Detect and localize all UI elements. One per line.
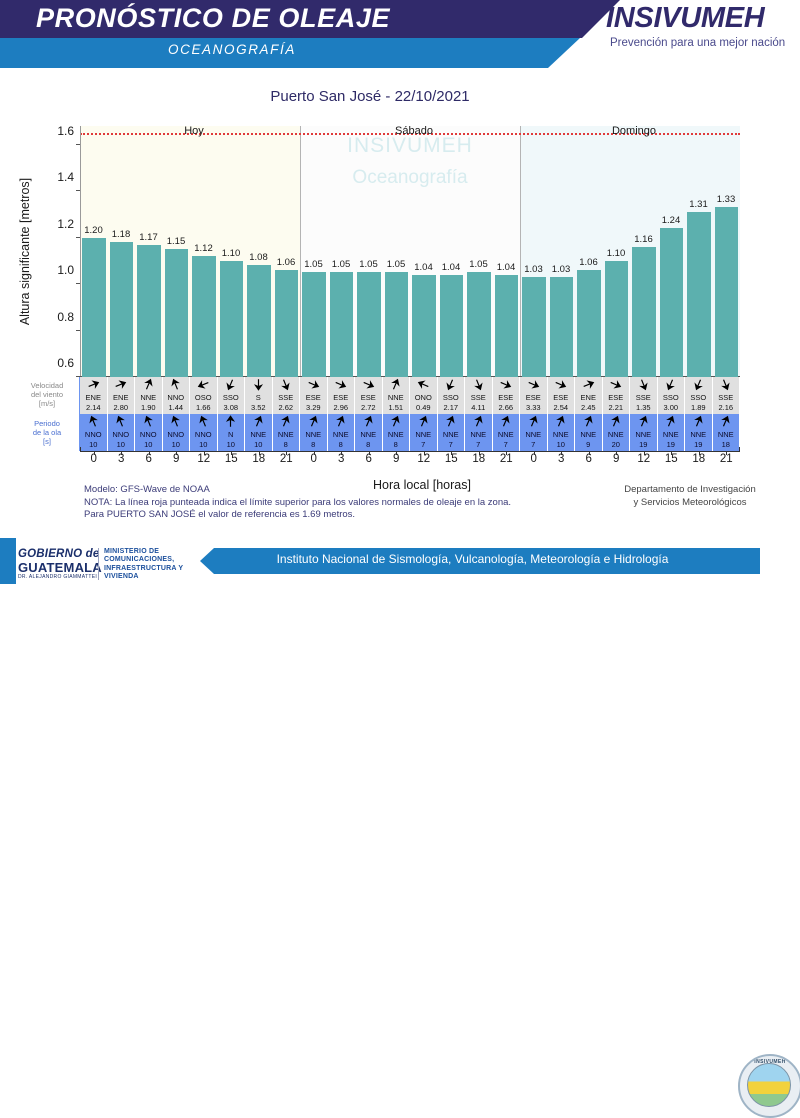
wind-direction-label: ESE (526, 393, 541, 403)
bar (192, 256, 216, 377)
row-label-wind-l2: del viento (16, 390, 78, 399)
period-cell: NNE7 (438, 414, 466, 451)
bar-value-label: 1.06 (272, 257, 301, 268)
wind-direction-label: ESE (553, 393, 568, 403)
wind-cell: ESE3.33 (520, 377, 548, 414)
wind-direction-label: SSO (223, 393, 239, 403)
wave-direction-label: NNO (140, 430, 157, 440)
wind-cell: SSO2.17 (438, 377, 466, 414)
x-tick-mark (479, 451, 480, 455)
x-tick-mark (589, 451, 590, 455)
wind-cell: ESE2.96 (328, 377, 356, 414)
wave-period-value: 10 (172, 440, 180, 450)
wind-cell: ENE2.45 (575, 377, 603, 414)
wave-period-value: 7 (421, 440, 425, 450)
bar (165, 249, 189, 377)
bar-value-label: 1.10 (217, 248, 246, 259)
wind-cell: ESE2.21 (603, 377, 631, 414)
bar-value-label: 1.17 (134, 232, 163, 243)
x-tick-mark (314, 451, 315, 455)
wave-direction-label: NNE (580, 430, 596, 440)
bar-value-label: 1.06 (574, 257, 603, 268)
wave-direction-label: NNE (278, 430, 294, 440)
wave-period-value: 19 (694, 440, 702, 450)
wave-period-row: NNO10NNO10NNO10NNO10NNO10N10NNE10NNE8NNE… (80, 414, 740, 451)
wave-direction-arrow-icon (609, 415, 622, 430)
wind-cell: NNE1.90 (135, 377, 163, 414)
wind-speed-value: 4.11 (471, 403, 485, 413)
wind-cell: NNE1.51 (383, 377, 411, 414)
wave-direction-arrow-icon (499, 415, 512, 430)
wave-period-value: 7 (504, 440, 508, 450)
row-label-wind-l3: [m/s] (16, 399, 78, 408)
wind-cell: ENE2.14 (80, 377, 108, 414)
bar-value-label: 1.04 (492, 262, 521, 273)
bar-value-label: 1.15 (162, 236, 191, 247)
x-tick-mark (424, 451, 425, 455)
bar (82, 238, 106, 377)
wave-period-value: 8 (339, 440, 343, 450)
y-tick-label: 0.8 (57, 310, 74, 324)
period-cell: NNE20 (603, 414, 631, 451)
x-tick-mark (396, 451, 397, 455)
x-tick-mark (671, 451, 672, 455)
wave-direction-arrow-icon (472, 415, 485, 430)
wind-speed-value: 1.44 (168, 403, 183, 413)
wave-height-chart: INSIVUMEH Oceanografía Altura significan… (80, 126, 740, 377)
wind-direction-label: NNO (167, 393, 184, 403)
row-label-period-l3: [s] (16, 437, 78, 446)
wave-direction-arrow-icon (417, 415, 430, 430)
bar-value-label: 1.08 (244, 252, 273, 263)
bar (577, 270, 601, 377)
wave-direction-arrow-icon (582, 415, 595, 430)
wind-direction-label: S (256, 393, 261, 403)
wave-period-value: 10 (557, 440, 565, 450)
wind-direction-label: NNE (140, 393, 156, 403)
wind-speed-value: 1.35 (636, 403, 651, 413)
wave-period-value: 7 (531, 440, 535, 450)
bar (357, 272, 381, 377)
wind-cell: NNO1.44 (163, 377, 191, 414)
y-tick-label: 1.0 (57, 263, 74, 277)
y-tick-label: 0.6 (57, 356, 74, 370)
period-cell: NNE10 (245, 414, 273, 451)
wave-period-value: 10 (144, 440, 152, 450)
wind-direction-label: ESE (306, 393, 321, 403)
bar (605, 261, 629, 377)
wind-speed-value: 2.80 (113, 403, 128, 413)
wind-direction-label: SSE (636, 393, 651, 403)
wave-period-value: 10 (199, 440, 207, 450)
period-cell: NNE10 (548, 414, 576, 451)
y-tick-label: 1.4 (57, 170, 74, 184)
wave-direction-label: N (228, 430, 233, 440)
wave-direction-label: NNE (250, 430, 266, 440)
wave-direction-label: NNE (470, 430, 486, 440)
row-label-wind-l1: Velocidad (16, 381, 78, 390)
wind-speed-value: 2.45 (581, 403, 596, 413)
wind-speed-value: 2.14 (86, 403, 101, 413)
bar (632, 247, 656, 377)
wind-cell: SSO3.00 (658, 377, 686, 414)
wind-direction-label: NNE (388, 393, 404, 403)
x-tick-mark (149, 451, 150, 455)
x-tick-mark (176, 451, 177, 455)
bar (385, 272, 409, 377)
wave-period-value: 7 (476, 440, 480, 450)
x-tick-mark (369, 451, 370, 455)
period-cell: NNO10 (108, 414, 136, 451)
bar (247, 265, 271, 377)
wave-direction-label: NNO (112, 430, 129, 440)
department-line2: y Servicios Meteorológicos (600, 497, 780, 510)
bar (687, 212, 711, 377)
wind-direction-arrow-icon (444, 378, 457, 393)
wave-direction-label: NNE (360, 430, 376, 440)
bar-value-label: 1.05 (382, 259, 411, 270)
x-tick-mark (451, 451, 452, 455)
wind-speed-value: 0.49 (416, 403, 431, 413)
wind-cell: ONO0.49 (410, 377, 438, 414)
wind-direction-arrow-icon (389, 378, 402, 393)
footer-divider (98, 548, 99, 580)
wind-direction-arrow-icon (609, 378, 622, 393)
wind-direction-arrow-icon (582, 378, 595, 393)
wave-direction-arrow-icon (142, 415, 155, 430)
wind-direction-label: ESE (608, 393, 623, 403)
wind-direction-label: SSE (278, 393, 293, 403)
y-tick-label: 1.2 (57, 217, 74, 231)
x-tick-mark (259, 451, 260, 455)
day-region-label: Domingo (600, 125, 668, 137)
chart-notes: Modelo: GFS-Wave de NOAA NOTA: La línea … (84, 484, 584, 522)
wind-speed-value: 3.52 (251, 403, 266, 413)
bar (110, 242, 134, 377)
wave-direction-arrow-icon (362, 415, 375, 430)
wind-speed-value: 2.17 (443, 403, 458, 413)
note-reference: Para PUERTO SAN JOSÉ el valor de referen… (84, 509, 584, 522)
wave-period-value: 7 (449, 440, 453, 450)
wind-direction-arrow-icon (169, 378, 182, 393)
wind-cell: SSE4.11 (465, 377, 493, 414)
wind-speed-value: 1.66 (196, 403, 211, 413)
bar-series: 1.201.181.171.151.121.101.081.061.051.05… (80, 126, 740, 377)
day-region-label: Sábado (380, 125, 448, 137)
x-tick-mark (699, 451, 700, 455)
wind-speed-row: ENE2.14ENE2.80NNE1.90NNO1.44OSO1.66SSO3.… (80, 377, 740, 414)
wind-direction-arrow-icon (87, 378, 100, 393)
wave-direction-arrow-icon (444, 415, 457, 430)
wave-direction-arrow-icon (664, 415, 677, 430)
wind-direction-label: ESE (498, 393, 513, 403)
bar (495, 275, 519, 377)
bar (715, 207, 739, 377)
wind-cell: SSO3.08 (218, 377, 246, 414)
wind-speed-value: 2.54 (553, 403, 568, 413)
x-tick-mark (726, 451, 727, 455)
wave-direction-label: NNE (415, 430, 431, 440)
insivumeh-logo: INSIVUMEH (606, 2, 764, 35)
wind-direction-arrow-icon (252, 378, 265, 393)
wave-direction-label: NNE (690, 430, 706, 440)
bar-value-label: 1.04 (437, 262, 466, 273)
bar-value-label: 1.05 (327, 259, 356, 270)
page-title: PRONÓSTICO DE OLEAJE (36, 3, 390, 34)
wave-direction-label: NNE (443, 430, 459, 440)
wind-direction-label: ESE (361, 393, 376, 403)
wind-direction-label: ESE (333, 393, 348, 403)
wave-direction-label: NNE (525, 430, 541, 440)
wind-direction-arrow-icon (527, 378, 540, 393)
period-cell: NNE8 (300, 414, 328, 451)
page-header: PRONÓSTICO DE OLEAJE OCEANOGRAFÍA INSIVU… (0, 0, 800, 68)
wind-speed-value: 3.00 (663, 403, 678, 413)
bar-value-label: 1.16 (629, 234, 658, 245)
wind-speed-value: 1.51 (388, 403, 403, 413)
institute-name: Instituto Nacional de Sismología, Vulcan… (200, 552, 745, 566)
x-tick-mark (616, 451, 617, 455)
bar (467, 272, 491, 377)
y-axis-label: Altura significante [metros] (18, 126, 40, 377)
wind-speed-value: 2.21 (608, 403, 623, 413)
period-cell: NNE19 (685, 414, 713, 451)
wind-direction-arrow-icon (307, 378, 320, 393)
wind-direction-arrow-icon (197, 378, 210, 393)
bar (660, 228, 684, 377)
note-limit: NOTA: La línea roja punteada indica el l… (84, 497, 584, 510)
wave-direction-arrow-icon (389, 415, 402, 430)
wave-direction-arrow-icon (87, 415, 100, 430)
period-cell: NNE19 (630, 414, 658, 451)
wave-period-value: 8 (311, 440, 315, 450)
row-label-wind: Velocidad del viento [m/s] (16, 381, 78, 408)
x-tick-mark (231, 451, 232, 455)
wind-direction-label: ENE (113, 393, 128, 403)
wave-period-value: 8 (366, 440, 370, 450)
bar (440, 275, 464, 377)
period-cell: NNE7 (520, 414, 548, 451)
wave-direction-arrow-icon (692, 415, 705, 430)
wind-cell: ESE3.29 (300, 377, 328, 414)
ministry-text: MINISTERIO DE COMUNICACIONES, INFRAESTRU… (104, 548, 194, 582)
wind-cell: ESE2.66 (493, 377, 521, 414)
bar-value-label: 1.05 (354, 259, 383, 270)
footer-blue-tab (0, 538, 16, 584)
wave-direction-arrow-icon (719, 415, 732, 430)
wind-direction-arrow-icon (417, 378, 430, 393)
wind-direction-arrow-icon (554, 378, 567, 393)
wave-direction-arrow-icon (554, 415, 567, 430)
wind-direction-label: ONO (415, 393, 432, 403)
wave-period-value: 8 (394, 440, 398, 450)
chart-title: Puerto San José - 22/10/2021 (0, 88, 740, 105)
wind-cell: S3.52 (245, 377, 273, 414)
x-tick-mark (534, 451, 535, 455)
wave-period-value: 18 (722, 440, 730, 450)
bar (220, 261, 244, 377)
x-tick-mark (286, 451, 287, 455)
wave-period-value: 10 (227, 440, 235, 450)
insivumeh-seal: INSIVUMEH (738, 1054, 800, 1118)
x-tick-mark (121, 451, 122, 455)
department-credit: Departamento de Investigación y Servicio… (600, 484, 780, 509)
wind-direction-label: SSE (718, 393, 733, 403)
wave-direction-arrow-icon (197, 415, 210, 430)
wave-period-value: 10 (89, 440, 97, 450)
bar-value-label: 1.33 (712, 194, 741, 205)
wind-speed-value: 2.16 (718, 403, 733, 413)
wave-period-value: 9 (586, 440, 590, 450)
wind-direction-label: SSO (663, 393, 679, 403)
wave-direction-arrow-icon (252, 415, 265, 430)
bar-value-label: 1.20 (79, 225, 108, 236)
wave-direction-arrow-icon (527, 415, 540, 430)
wind-direction-arrow-icon (692, 378, 705, 393)
wave-direction-label: NNE (333, 430, 349, 440)
wind-speed-value: 2.96 (333, 403, 348, 413)
wind-direction-label: SSO (443, 393, 459, 403)
wind-speed-value: 1.90 (141, 403, 156, 413)
wave-direction-arrow-icon (114, 415, 127, 430)
y-tick-label: 1.6 (57, 124, 74, 138)
wind-speed-value: 3.33 (526, 403, 541, 413)
gobierno-line2: GUATEMALA (18, 560, 102, 575)
wind-speed-value: 2.62 (278, 403, 293, 413)
wave-direction-label: NNE (608, 430, 624, 440)
bar (412, 275, 436, 377)
wave-period-value: 20 (612, 440, 620, 450)
bar (275, 270, 299, 377)
period-cell: NNE7 (410, 414, 438, 451)
bar (137, 245, 161, 377)
period-cell: NNE8 (273, 414, 301, 451)
period-cell: NNO10 (190, 414, 218, 451)
wind-cell: ESE2.54 (548, 377, 576, 414)
wind-direction-arrow-icon (279, 378, 292, 393)
wave-period-value: 19 (667, 440, 675, 450)
x-tick-mark (341, 451, 342, 455)
wind-direction-label: SSE (471, 393, 486, 403)
period-cell: NNE8 (355, 414, 383, 451)
wind-direction-arrow-icon (362, 378, 375, 393)
bar-value-label: 1.03 (547, 264, 576, 275)
period-cell: NNE19 (658, 414, 686, 451)
bar (522, 277, 546, 377)
bar-value-label: 1.31 (684, 199, 713, 210)
wave-direction-label: NNO (85, 430, 102, 440)
bar (330, 272, 354, 377)
wave-direction-label: NNE (663, 430, 679, 440)
gobierno-line1: GOBIERNO de (18, 548, 99, 560)
wind-direction-arrow-icon (499, 378, 512, 393)
wind-speed-value: 2.72 (361, 403, 376, 413)
bar-value-label: 1.24 (657, 215, 686, 226)
seal-inner (747, 1063, 791, 1107)
wave-direction-arrow-icon (169, 415, 182, 430)
wave-direction-arrow-icon (637, 415, 650, 430)
bar (302, 272, 326, 377)
gobierno-line3: DR. ALEJANDRO GIAMMATTEI (18, 574, 97, 580)
wind-direction-label: ENE (581, 393, 596, 403)
period-cell: NNE8 (328, 414, 356, 451)
wind-direction-arrow-icon (719, 378, 732, 393)
bar-value-label: 1.05 (464, 259, 493, 270)
wave-direction-label: NNE (553, 430, 569, 440)
wind-cell: SSE2.16 (713, 377, 741, 414)
page-footer: GOBIERNO de GUATEMALA DR. ALEJANDRO GIAM… (0, 526, 800, 600)
wind-direction-arrow-icon (114, 378, 127, 393)
x-tick-mark (644, 451, 645, 455)
wind-cell: SSE2.62 (273, 377, 301, 414)
wind-period-table: Velocidad del viento [m/s] Periodo de la… (80, 377, 740, 452)
row-label-period-l2: de la ola (16, 428, 78, 437)
wind-direction-label: OSO (195, 393, 212, 403)
page-subtitle: OCEANOGRAFÍA (168, 42, 296, 57)
period-cell: NNO10 (80, 414, 108, 451)
wind-speed-value: 3.29 (306, 403, 321, 413)
wind-direction-arrow-icon (334, 378, 347, 393)
bar-value-label: 1.04 (409, 262, 438, 273)
wind-direction-arrow-icon (224, 378, 237, 393)
wave-period-value: 10 (254, 440, 262, 450)
bar-value-label: 1.10 (602, 248, 631, 259)
x-tick-mark (561, 451, 562, 455)
period-cell: NNE18 (713, 414, 741, 451)
bar (550, 277, 574, 377)
period-cell: NNE9 (575, 414, 603, 451)
wave-period-value: 8 (284, 440, 288, 450)
wave-forecast-page: PRONÓSTICO DE OLEAJE OCEANOGRAFÍA INSIVU… (0, 0, 800, 600)
period-cell: NNE7 (465, 414, 493, 451)
wind-speed-value: 3.08 (223, 403, 238, 413)
wave-period-value: 19 (639, 440, 647, 450)
row-label-period: Periodo de la ola [s] (16, 419, 78, 446)
wave-direction-label: NNE (305, 430, 321, 440)
x-axis-line (80, 451, 740, 452)
note-model: Modelo: GFS-Wave de NOAA (84, 484, 584, 497)
x-tick-mark (204, 451, 205, 455)
period-cell: NNE8 (383, 414, 411, 451)
period-cell: N10 (218, 414, 246, 451)
wave-direction-label: NNO (195, 430, 212, 440)
wave-direction-label: NNE (498, 430, 514, 440)
wave-direction-arrow-icon (279, 415, 292, 430)
wind-direction-arrow-icon (664, 378, 677, 393)
wind-direction-arrow-icon (142, 378, 155, 393)
period-cell: NNO10 (135, 414, 163, 451)
wave-direction-label: NNE (635, 430, 651, 440)
day-region-label: Hoy (160, 125, 228, 137)
bar-value-label: 1.12 (189, 243, 218, 254)
insivumeh-tagline: Prevención para una mejor nación (610, 37, 785, 49)
wind-cell: ENE2.80 (108, 377, 136, 414)
row-label-period-l1: Periodo (16, 419, 78, 428)
wave-period-value: 10 (117, 440, 125, 450)
wave-direction-arrow-icon (334, 415, 347, 430)
department-line1: Departamento de Investigación (600, 484, 780, 497)
wave-direction-label: NNE (388, 430, 404, 440)
wind-direction-arrow-icon (637, 378, 650, 393)
wave-direction-label: NNE (718, 430, 734, 440)
wind-direction-arrow-icon (472, 378, 485, 393)
wind-direction-label: SSO (690, 393, 706, 403)
bar-value-label: 1.05 (299, 259, 328, 270)
bar-value-label: 1.18 (107, 229, 136, 240)
x-tick-mark (506, 451, 507, 455)
wind-speed-value: 1.89 (691, 403, 706, 413)
wind-direction-label: ENE (86, 393, 101, 403)
